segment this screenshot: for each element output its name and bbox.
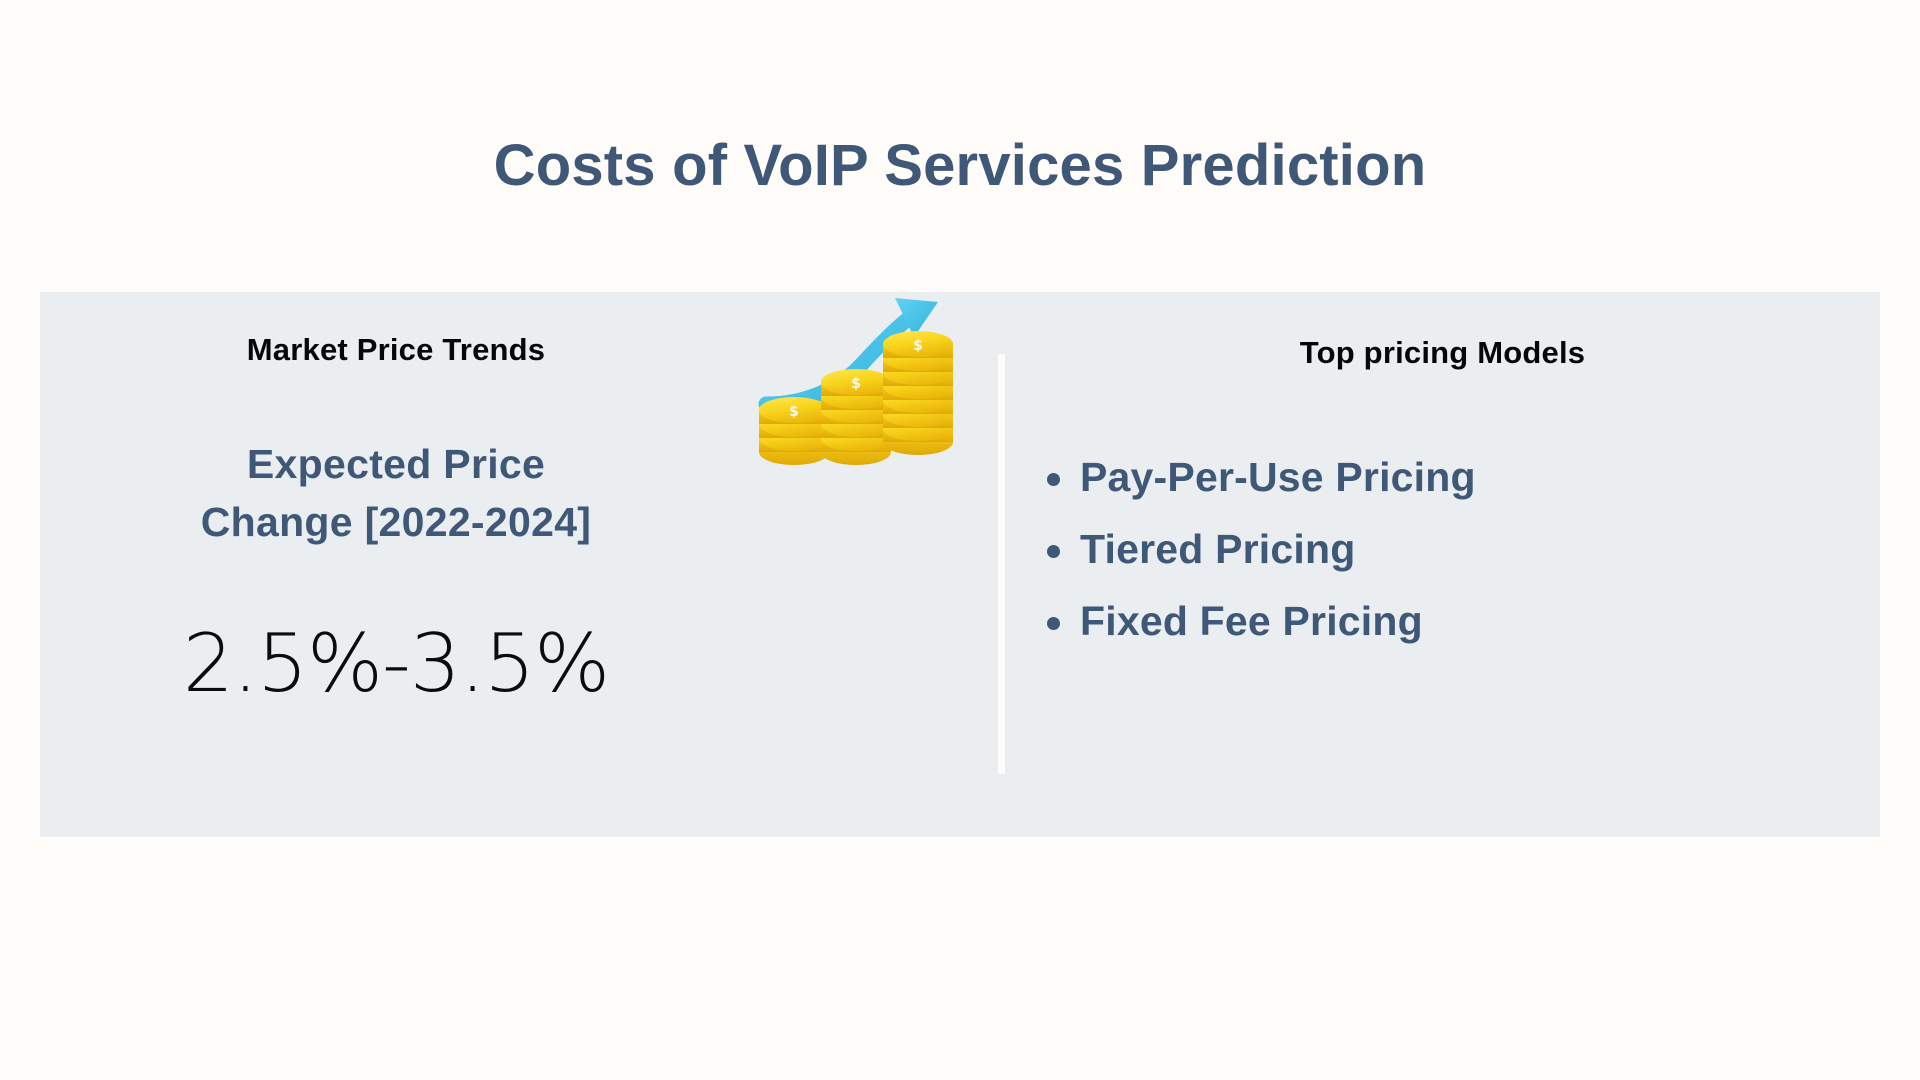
expected-price-change-label: Expected Price Change [2022-2024] bbox=[40, 435, 752, 551]
info-panel: Market Price Trends Expected Price Chang… bbox=[40, 292, 1880, 837]
expected-price-change-line2: Change [2022-2024] bbox=[40, 493, 752, 551]
page-title: Costs of VoIP Services Prediction bbox=[0, 135, 1920, 198]
coin-stack-medium: $ bbox=[821, 369, 891, 465]
list-item-label: Pay-Per-Use Pricing bbox=[1080, 454, 1476, 500]
list-item: Pay-Per-Use Pricing bbox=[1005, 457, 1880, 498]
coin-stack-tall: $ bbox=[883, 331, 953, 455]
coin-stack-small: $ bbox=[759, 397, 829, 465]
svg-text:$: $ bbox=[851, 376, 861, 392]
list-item: Fixed Fee Pricing bbox=[1005, 601, 1880, 642]
list-item-label: Fixed Fee Pricing bbox=[1080, 598, 1423, 644]
market-price-trends-heading: Market Price Trends bbox=[40, 332, 752, 368]
expected-price-change-line1: Expected Price bbox=[40, 435, 752, 493]
list-item: Tiered Pricing bbox=[1005, 529, 1880, 570]
bullet-icon bbox=[1047, 545, 1060, 558]
bullet-icon bbox=[1047, 617, 1060, 630]
svg-text:$: $ bbox=[789, 404, 799, 420]
bullet-icon bbox=[1047, 473, 1060, 486]
expected-price-change-value: 2.5%-3.5% bbox=[40, 617, 752, 710]
market-price-trends-section: Market Price Trends Expected Price Chang… bbox=[40, 292, 998, 837]
top-pricing-models-section: Top pricing Models Pay-Per-Use Pricing T… bbox=[1005, 292, 1880, 837]
list-item-label: Tiered Pricing bbox=[1080, 526, 1355, 572]
growth-coins-illustration: $ $ bbox=[752, 292, 972, 482]
pricing-models-list: Pay-Per-Use Pricing Tiered Pricing Fixed… bbox=[1005, 457, 1880, 673]
top-pricing-models-heading: Top pricing Models bbox=[1005, 335, 1880, 371]
svg-text:$: $ bbox=[913, 338, 923, 354]
panel-divider bbox=[998, 354, 1005, 774]
